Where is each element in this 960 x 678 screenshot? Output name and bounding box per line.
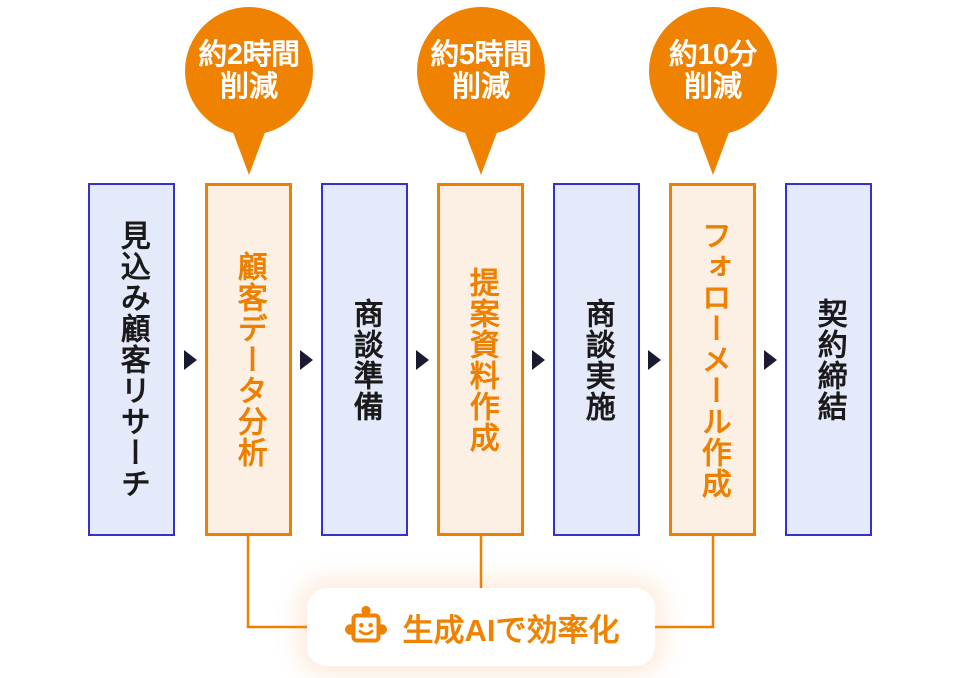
process-step-1-label: 見込み顧客リサーチ bbox=[115, 220, 147, 499]
process-step-4-label: 提案資料作成 bbox=[464, 267, 496, 453]
savings-balloon-2-line1: 約5時間 bbox=[430, 39, 531, 71]
process-step-5[interactable]: 商談実施 bbox=[553, 183, 640, 536]
process-step-3-label: 商談準備 bbox=[348, 298, 380, 422]
savings-balloon-3: 約10分 削減 bbox=[649, 7, 777, 135]
step-arrow-2-to-3 bbox=[300, 350, 313, 370]
savings-balloon-3-line2: 削減 bbox=[684, 71, 742, 103]
process-step-6-label: フォローメール作成 bbox=[696, 220, 728, 499]
process-step-3[interactable]: 商談準備 bbox=[321, 183, 408, 536]
robot-icon bbox=[343, 604, 389, 650]
process-step-4[interactable]: 提案資料作成 bbox=[437, 183, 524, 536]
step-arrow-3-to-4 bbox=[416, 350, 429, 370]
savings-balloon-1: 約2時間 削減 bbox=[185, 7, 313, 135]
savings-balloon-1-line2: 削減 bbox=[220, 71, 278, 103]
savings-balloon-1-pointer bbox=[228, 119, 270, 175]
process-flow-diagram: 約2時間 削減 約5時間 削減 約10分 削減 見込み顧客リサーチ 顧客データ分… bbox=[0, 0, 960, 678]
savings-balloon-3-pointer bbox=[692, 119, 734, 175]
process-step-5-label: 商談実施 bbox=[580, 298, 612, 422]
savings-balloon-2: 約5時間 削減 bbox=[417, 7, 545, 135]
savings-balloon-2-line2: 削減 bbox=[452, 71, 510, 103]
process-step-7-label: 契約締結 bbox=[812, 298, 844, 422]
process-step-6[interactable]: フォローメール作成 bbox=[669, 183, 756, 536]
step-arrow-5-to-6 bbox=[648, 350, 661, 370]
generative-ai-badge[interactable]: 生成AIで効率化 bbox=[307, 588, 655, 666]
process-step-1[interactable]: 見込み顧客リサーチ bbox=[88, 183, 175, 536]
process-step-2[interactable]: 顧客データ分析 bbox=[205, 183, 292, 536]
savings-balloon-3-line1: 約10分 bbox=[669, 39, 757, 71]
step-arrow-4-to-5 bbox=[532, 350, 545, 370]
process-step-2-label: 顧客データ分析 bbox=[232, 251, 264, 468]
savings-balloon-2-pointer bbox=[460, 119, 502, 175]
savings-balloon-1-line1: 約2時間 bbox=[198, 39, 299, 71]
process-step-7[interactable]: 契約締結 bbox=[785, 183, 872, 536]
generative-ai-badge-label: 生成AIで効率化 bbox=[403, 605, 620, 650]
step-arrow-6-to-7 bbox=[764, 350, 777, 370]
step-arrow-1-to-2 bbox=[184, 350, 197, 370]
